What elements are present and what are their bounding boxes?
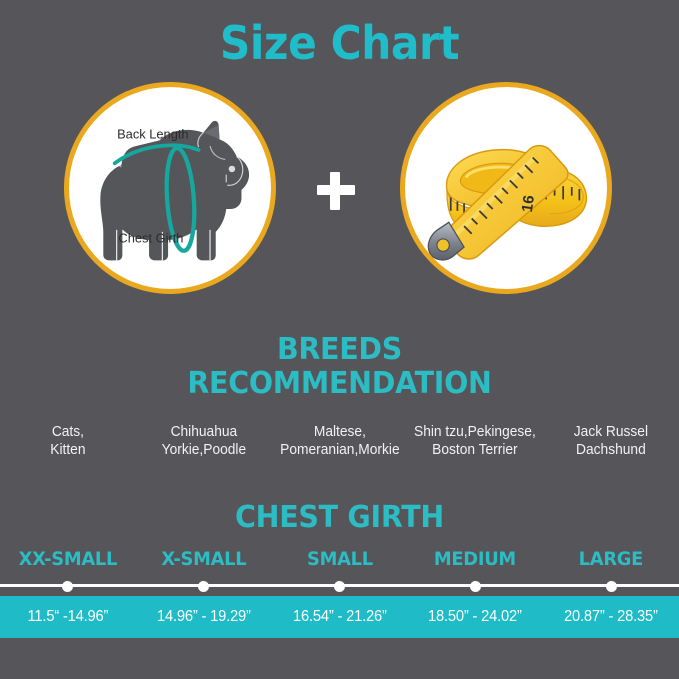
- page-title: Size Chart: [27, 20, 652, 66]
- timeline-dot-cell-small: [272, 580, 408, 592]
- measurement-xx-small: 11.5“ -14.96”: [3, 608, 132, 626]
- breed-line: Cats,: [5, 424, 130, 442]
- measurement-x-small: 14.96” - 19.29”: [139, 608, 268, 626]
- plus-icon: [312, 168, 360, 216]
- breed-line: Kitten: [5, 442, 130, 460]
- breed-cell-x-small: Chihuahua Yorkie,Poodle: [139, 424, 268, 459]
- measurement-medium: 18.50” - 24.02”: [411, 608, 540, 626]
- size-chart-page: Size Chart: [0, 0, 679, 679]
- timeline-dot-cell-medium: [407, 580, 543, 592]
- size-timeline: [0, 580, 679, 592]
- breeds-heading-line1: BREEDS: [17, 333, 662, 367]
- size-label-large: LARGE: [547, 548, 675, 570]
- size-label-x-small: X-SMALL: [140, 548, 268, 570]
- timeline-dot-cell-x-small: [136, 580, 272, 592]
- breed-line: Shin tzu,Pekingese,: [413, 424, 538, 442]
- illustration-row: Back Length Chest Girth: [0, 82, 679, 304]
- breeds-heading-line2: RECOMMENDATION: [17, 367, 662, 401]
- measurement-large: 20.87” - 28.35”: [547, 608, 676, 626]
- breed-cell-medium: Shin tzu,Pekingese, Boston Terrier: [411, 424, 540, 459]
- size-label-xx-small: XX-SMALL: [4, 548, 132, 570]
- measuring-tape-circle: 16: [400, 82, 612, 294]
- timeline-dot-icon: [62, 581, 73, 592]
- timeline-dot-cell-xx-small: [0, 580, 136, 592]
- timeline-dot-cell-large: [543, 580, 679, 592]
- tape-number-label: 16: [519, 194, 538, 213]
- measurements-bar: 11.5“ -14.96” 14.96” - 19.29” 16.54” - 2…: [0, 596, 679, 638]
- breed-line: Pomeranian,Morkie: [277, 442, 402, 460]
- breed-line: Jack Russel: [548, 424, 673, 442]
- chest-girth-label: Chest Girth: [118, 230, 183, 245]
- breeds-heading: BREEDS RECOMMENDATION: [17, 333, 662, 400]
- measurement-small: 16.54” - 21.26”: [275, 608, 404, 626]
- dog-silhouette-icon: Back Length Chest Girth: [69, 87, 271, 289]
- breed-line: Yorkie,Poodle: [141, 442, 266, 460]
- measuring-tape-icon: 16: [405, 87, 607, 289]
- breed-line: Boston Terrier: [413, 442, 538, 460]
- breed-line: Dachshund: [548, 442, 673, 460]
- size-label-medium: MEDIUM: [411, 548, 539, 570]
- dog-illustration-circle: Back Length Chest Girth: [64, 82, 276, 294]
- breed-line: Chihuahua: [141, 424, 266, 442]
- breed-cell-xx-small: Cats, Kitten: [3, 424, 132, 459]
- timeline-dot-icon: [470, 581, 481, 592]
- timeline-dot-icon: [606, 581, 617, 592]
- timeline-dots: [0, 580, 679, 592]
- breed-line: Maltese,: [277, 424, 402, 442]
- breeds-row: Cats, Kitten Chihuahua Yorkie,Poodle Mal…: [0, 424, 679, 459]
- breed-cell-large: Jack Russel Dachshund: [547, 424, 676, 459]
- size-labels-row: XX-SMALL X-SMALL SMALL MEDIUM LARGE: [0, 548, 679, 570]
- timeline-dot-icon: [334, 581, 345, 592]
- timeline-dot-icon: [198, 581, 209, 592]
- chest-girth-heading: CHEST GIRTH: [17, 500, 662, 535]
- size-label-small: SMALL: [276, 548, 404, 570]
- back-length-label: Back Length: [117, 126, 189, 141]
- breed-cell-small: Maltese, Pomeranian,Morkie: [275, 424, 404, 459]
